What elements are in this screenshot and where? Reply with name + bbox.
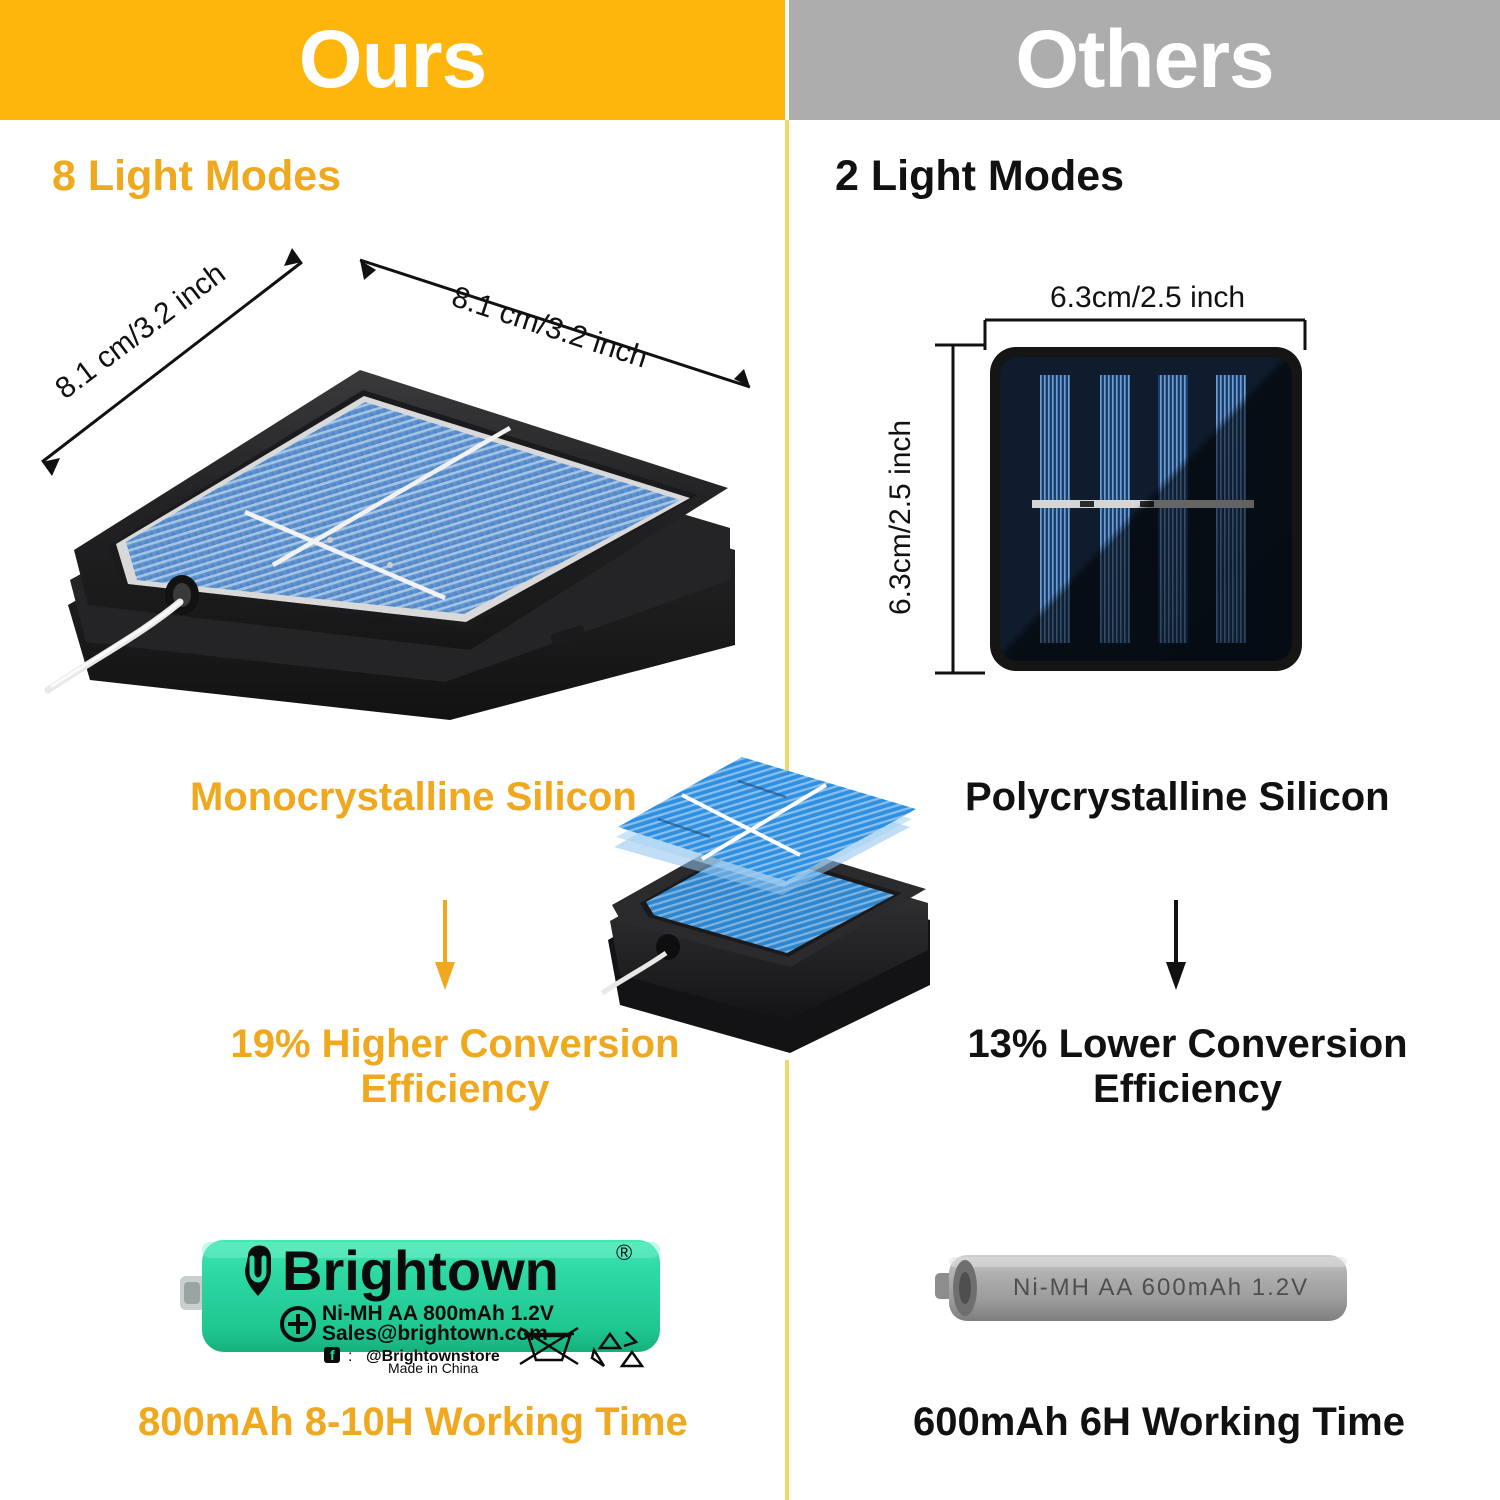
comparison-page: Ours Others 8 Light Modes 2 Light Modes bbox=[0, 0, 1500, 1500]
header-others: Others bbox=[789, 0, 1500, 120]
header-others-title: Others bbox=[1015, 19, 1273, 101]
ours-working-time-label: 800mAh 8-10H Working Time bbox=[138, 1400, 688, 1445]
ours-battery-trademark: ® bbox=[616, 1240, 632, 1265]
header-ours: Ours bbox=[0, 0, 785, 120]
ours-dimension-label-left: 8.1 cm/3.2 inch bbox=[49, 257, 231, 406]
others-dimension-label-side: 6.3cm/2.5 inch bbox=[884, 420, 917, 615]
others-battery-image: Ni-MH AA 600mAh 1.2V bbox=[935, 1235, 1365, 1360]
ours-silicon-type-label: Monocrystalline Silicon bbox=[190, 775, 637, 820]
ours-down-arrow-icon bbox=[432, 900, 458, 992]
others-dimension-label-top: 6.3cm/2.5 inch bbox=[1050, 281, 1245, 314]
ours-solar-panel-image: 8.1 cm/3.2 inch 8.1 cm/3.2 inch bbox=[30, 250, 770, 720]
others-down-arrow-icon bbox=[1163, 900, 1189, 992]
ours-efficiency-label: 19% Higher Conversion Efficiency bbox=[175, 1022, 735, 1112]
svg-text::: : bbox=[348, 1348, 352, 1365]
ours-battery-brand: Brightown bbox=[282, 1239, 559, 1302]
ours-light-modes-label: 8 Light Modes bbox=[52, 155, 341, 198]
others-efficiency-line1: 13% Lower Conversion bbox=[910, 1022, 1465, 1067]
others-efficiency-line2: Efficiency bbox=[910, 1067, 1465, 1112]
ours-battery-image: Brightown ® Ni-MH AA 800mAh 1.2V Sales@b… bbox=[180, 1228, 680, 1373]
others-efficiency-label: 13% Lower Conversion Efficiency bbox=[910, 1022, 1465, 1112]
ours-efficiency-line1: 19% Higher Conversion bbox=[175, 1022, 735, 1067]
ours-battery-origin: Made in China bbox=[388, 1360, 478, 1376]
header-ours-title: Ours bbox=[299, 19, 486, 101]
others-battery-spec: Ni-MH AA 600mAh 1.2V bbox=[1013, 1274, 1309, 1301]
others-working-time-label: 600mAh 6H Working Time bbox=[913, 1400, 1405, 1445]
others-light-modes-label: 2 Light Modes bbox=[835, 155, 1124, 198]
facebook-icon: f bbox=[330, 1347, 335, 1363]
ours-dimension-label-right: 8.1 cm/3.2 inch bbox=[448, 280, 652, 374]
ours-efficiency-line2: Efficiency bbox=[175, 1067, 735, 1112]
others-silicon-type-label: Polycrystalline Silicon bbox=[965, 775, 1390, 820]
header-bar: Ours Others bbox=[0, 0, 1500, 120]
column-divider-bottom bbox=[785, 1060, 789, 1500]
ours-battery-email: Sales@brightown.com bbox=[322, 1322, 548, 1345]
exploded-panel-image bbox=[590, 735, 940, 1065]
others-solar-panel-image: 6.3cm/2.5 inch 6.3cm/2.5 inch bbox=[900, 275, 1340, 685]
